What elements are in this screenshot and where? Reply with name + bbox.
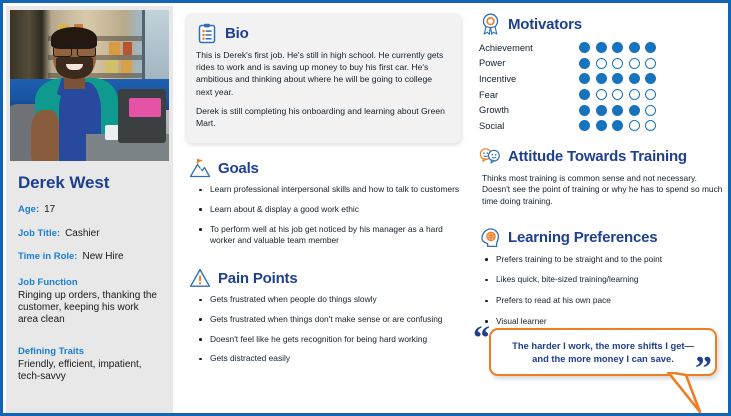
goals-list: Learn professional interpersonal skills …: [197, 184, 461, 247]
rating-dot-empty: [612, 89, 623, 100]
fact-row-age: Age:17: [18, 204, 169, 217]
goals-list-item: To perform well at his job get noticed b…: [197, 224, 461, 248]
learning-preferences-list: Prefers training to be straight and to t…: [483, 254, 725, 327]
goals-section: Goals Learn professional interpersonal s…: [189, 157, 461, 247]
bio-paragraph: This is Derek's first job. He's still in…: [196, 49, 450, 98]
rating-dot-empty: [645, 89, 656, 100]
goals-list-item: Learn professional interpersonal skills …: [197, 184, 461, 196]
clipboard-icon: [196, 22, 218, 44]
learning-preferences-list-item: Prefers training to be straight and to t…: [483, 254, 725, 266]
motivator-label: Incentive: [479, 74, 579, 84]
attitude-header: Attitude Towards Training: [479, 146, 725, 168]
photo-person-arm: [31, 110, 60, 161]
fact-label: Age:: [18, 204, 39, 215]
rating-dot-filled: [579, 89, 590, 100]
fact-value: 17: [44, 204, 55, 215]
learning-preferences-list-item: Prefers to read at his own pace: [483, 295, 725, 307]
pain-points-header: Pain Points: [189, 267, 461, 289]
rating-dot-empty: [596, 58, 607, 69]
persona-photo: [10, 10, 169, 161]
learning-preferences-list-item: Likes quick, bite-sized training/learnin…: [483, 274, 725, 286]
fact-value: New Hire: [82, 251, 123, 262]
photo-shelf-goods: [123, 42, 133, 56]
rating-dot-empty: [612, 58, 623, 69]
quote-text: The harder I work, the more shifts I get…: [491, 339, 715, 366]
motivator-rating-dots: [579, 42, 656, 53]
motivators-title: Motivators: [508, 16, 582, 33]
motivator-rating-dots: [579, 58, 656, 69]
motivator-label: Social: [479, 121, 579, 131]
pain-points-list-item: Gets frustrated when things don't make s…: [197, 314, 461, 326]
speech-faces-icon: [479, 146, 501, 168]
motivator-label: Power: [479, 58, 579, 68]
warning-triangle-icon: [189, 267, 211, 289]
pain-points-list: Gets frustrated when people do things sl…: [197, 294, 461, 365]
motivator-row-achievement: Achievement: [479, 40, 725, 56]
mountain-flag-icon: [189, 157, 211, 179]
rating-dot-filled: [579, 73, 590, 84]
job-function-heading: Job Function: [18, 277, 169, 288]
fact-row-time-in-role: Time in Role:New Hire: [18, 251, 169, 264]
motivator-row-growth: Growth: [479, 102, 725, 118]
motivator-rating-dots: [579, 105, 656, 116]
rating-dot-filled: [596, 120, 607, 131]
photo-register-screen: [129, 98, 161, 118]
rating-dot-filled: [596, 42, 607, 53]
rating-dot-filled: [629, 42, 640, 53]
rating-dot-filled: [629, 73, 640, 84]
defining-traits-heading: Defining Traits: [18, 346, 169, 357]
fact-value: Cashier: [65, 228, 99, 239]
rating-dot-filled: [612, 105, 623, 116]
bio-card: Bio This is Derek's first job. He's stil…: [185, 13, 461, 143]
rating-dot-filled: [612, 120, 623, 131]
bio-paragraph: Derek is still completing his onboarding…: [196, 105, 450, 129]
pain-points-list-item: Gets distracted easily: [197, 353, 461, 365]
rating-dot-filled: [579, 105, 590, 116]
pain-points-list-item: Doesn't feel like he gets recognition fo…: [197, 334, 461, 346]
photo-person-glasses: [53, 45, 96, 56]
quote-bubble: The harder I work, the more shifts I get…: [489, 328, 717, 376]
rating-dot-filled: [579, 120, 590, 131]
learning-preferences-section: Learning Preferences Prefers training to…: [479, 227, 725, 327]
rating-dot-empty: [596, 89, 607, 100]
motivator-row-social: Social: [479, 118, 725, 134]
motivator-rating-dots: [579, 120, 656, 131]
motivators-header: Motivators: [479, 13, 725, 35]
persona-name: Derek West: [18, 173, 169, 193]
bio-header: Bio: [196, 22, 450, 44]
rating-dot-filled: [645, 42, 656, 53]
fact-row-job-title: Job Title:Cashier: [18, 228, 169, 241]
fact-label: Job Title:: [18, 228, 60, 239]
rating-dot-filled: [596, 105, 607, 116]
rating-dot-empty: [629, 58, 640, 69]
persona-sheet: Derek West Age:17 Job Title:Cashier Time…: [0, 0, 731, 416]
motivators-section: Motivators Achievement Power Incentive F…: [479, 13, 725, 134]
award-ribbon-icon: [479, 13, 501, 35]
pain-points-title: Pain Points: [218, 270, 297, 287]
rating-dot-empty: [645, 58, 656, 69]
fact-label: Time in Role:: [18, 251, 77, 262]
motivators-rating-table: Achievement Power Incentive Fear Growth: [479, 40, 725, 134]
learning-preferences-list-item: Visual learner: [483, 316, 725, 328]
goals-list-item: Learn about & display a good work ethic: [197, 204, 461, 216]
middle-column: Bio This is Derek's first job. He's stil…: [179, 6, 469, 416]
rating-dot-filled: [645, 73, 656, 84]
rating-dot-empty: [645, 120, 656, 131]
pain-points-section: Pain Points Gets frustrated when people …: [189, 267, 461, 365]
rating-dot-empty: [629, 89, 640, 100]
motivator-label: Growth: [479, 105, 579, 115]
photo-shelf-goods: [121, 60, 132, 74]
motivator-row-incentive: Incentive: [479, 71, 725, 87]
head-brain-icon: [479, 227, 501, 249]
motivator-row-power: Power: [479, 56, 725, 72]
rating-dot-filled: [612, 42, 623, 53]
photo-shelf-goods: [105, 60, 118, 74]
attitude-title: Attitude Towards Training: [508, 148, 687, 165]
job-function-text: Ringing up orders, thanking the customer…: [18, 290, 159, 327]
quote-close-mark: ”: [695, 352, 712, 386]
pain-points-list-item: Gets frustrated when people do things sl…: [197, 294, 461, 306]
photo-shelf-goods: [109, 42, 120, 56]
persona-sidebar: Derek West Age:17 Job Title:Cashier Time…: [6, 6, 173, 416]
bio-title: Bio: [225, 25, 249, 42]
rating-dot-filled: [612, 73, 623, 84]
quote-callout: “ The harder I work, the more shifts I g…: [473, 328, 718, 384]
motivator-label: Fear: [479, 90, 579, 100]
attitude-text: Thinks most training is common sense and…: [482, 173, 725, 208]
quote-open-mark: “: [473, 322, 490, 356]
goals-title: Goals: [218, 160, 259, 177]
defining-traits-text: Friendly, efficient, impatient, tech-sav…: [18, 359, 159, 383]
attitude-section: Attitude Towards Training Thinks most tr…: [479, 146, 725, 208]
motivator-rating-dots: [579, 89, 656, 100]
rating-dot-empty: [629, 120, 640, 131]
rating-dot-empty: [645, 105, 656, 116]
learning-preferences-header: Learning Preferences: [479, 227, 725, 249]
rating-dot-filled: [629, 105, 640, 116]
motivator-row-fear: Fear: [479, 87, 725, 103]
motivator-rating-dots: [579, 73, 656, 84]
rating-dot-filled: [596, 73, 607, 84]
rating-dot-filled: [579, 58, 590, 69]
photo-fridge: [142, 10, 169, 82]
motivator-label: Achievement: [479, 43, 579, 53]
learning-preferences-title: Learning Preferences: [508, 229, 657, 246]
goals-header: Goals: [189, 157, 461, 179]
rating-dot-filled: [579, 42, 590, 53]
